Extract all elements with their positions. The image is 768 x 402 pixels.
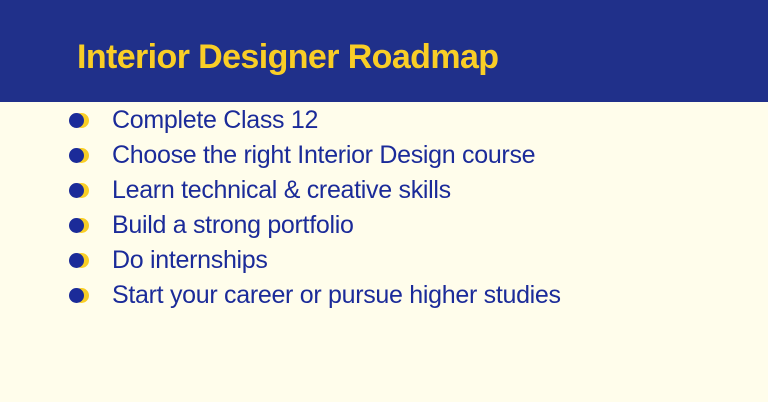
bullet-icon — [68, 286, 98, 304]
list-item-label: Complete Class 12 — [112, 105, 318, 135]
roadmap-poster: Interior Designer Roadmap Complete Class… — [0, 0, 768, 402]
list-item: Choose the right Interior Design course — [0, 137, 768, 172]
list-item: Do internships — [0, 242, 768, 277]
list-item: Learn technical & creative skills — [0, 172, 768, 207]
bullet-icon — [68, 111, 98, 129]
page-title: Interior Designer Roadmap — [77, 36, 498, 78]
list-item: Complete Class 12 — [0, 102, 768, 137]
roadmap-list: Complete Class 12 Choose the right Inter… — [0, 102, 768, 312]
bullet-icon — [68, 146, 98, 164]
bullet-dot-icon — [69, 148, 84, 163]
list-item: Build a strong portfolio — [0, 207, 768, 242]
bullet-dot-icon — [69, 218, 84, 233]
list-item-label: Build a strong portfolio — [112, 210, 354, 240]
list-item-label: Learn technical & creative skills — [112, 175, 451, 205]
bullet-dot-icon — [69, 113, 84, 128]
bullet-icon — [68, 251, 98, 269]
list-item-label: Start your career or pursue higher studi… — [112, 280, 561, 310]
bullet-dot-icon — [69, 253, 84, 268]
header-band: Interior Designer Roadmap — [0, 0, 768, 102]
list-item: Start your career or pursue higher studi… — [0, 277, 768, 312]
bullet-dot-icon — [69, 288, 84, 303]
list-item-label: Do internships — [112, 245, 268, 275]
bullet-dot-icon — [69, 183, 84, 198]
list-item-label: Choose the right Interior Design course — [112, 140, 535, 170]
bullet-icon — [68, 181, 98, 199]
bullet-icon — [68, 216, 98, 234]
